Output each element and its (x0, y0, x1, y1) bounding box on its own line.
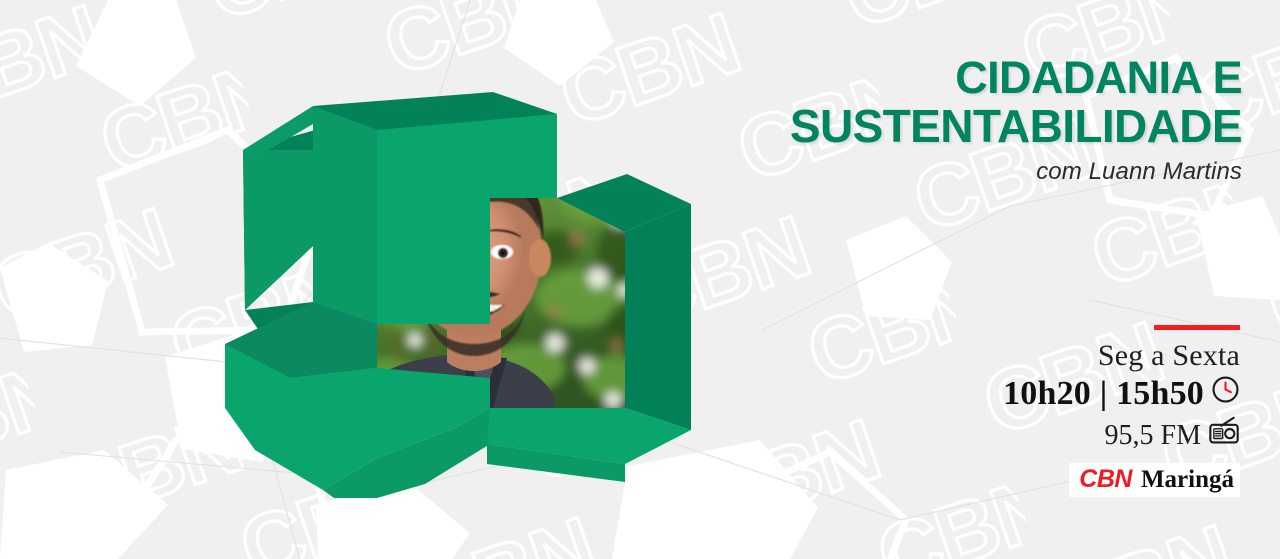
radio-icon (1208, 416, 1240, 455)
clock-icon (1211, 374, 1240, 414)
red-divider (1154, 325, 1240, 330)
broadcast-times-row: 10h20 | 15h50 (980, 374, 1240, 414)
station-city: Maringá (1141, 467, 1234, 493)
title-line-2: SUSTENTABILIDADE (602, 102, 1242, 150)
schedule-block: Seg a Sexta 10h20 | 15h50 95,5 FM (980, 325, 1240, 497)
broadcast-days: Seg a Sexta (980, 339, 1240, 373)
radio-show-banner: CBN (0, 0, 1280, 559)
title-line-1: CIDADANIA E (602, 54, 1242, 102)
show-title-block: CIDADANIA E SUSTENTABILIDADE com Luann M… (602, 54, 1242, 186)
frequency-label: 95,5 FM (1105, 419, 1201, 453)
frequency-row: 95,5 FM (980, 416, 1240, 455)
broadcast-times: 10h20 | 15h50 (1003, 374, 1204, 414)
cbn-wordmark: CBN (1079, 466, 1132, 492)
host-subtitle: com Luann Martins (602, 158, 1242, 186)
cbn-maringa-logo: CBN Maringá (1069, 463, 1240, 497)
